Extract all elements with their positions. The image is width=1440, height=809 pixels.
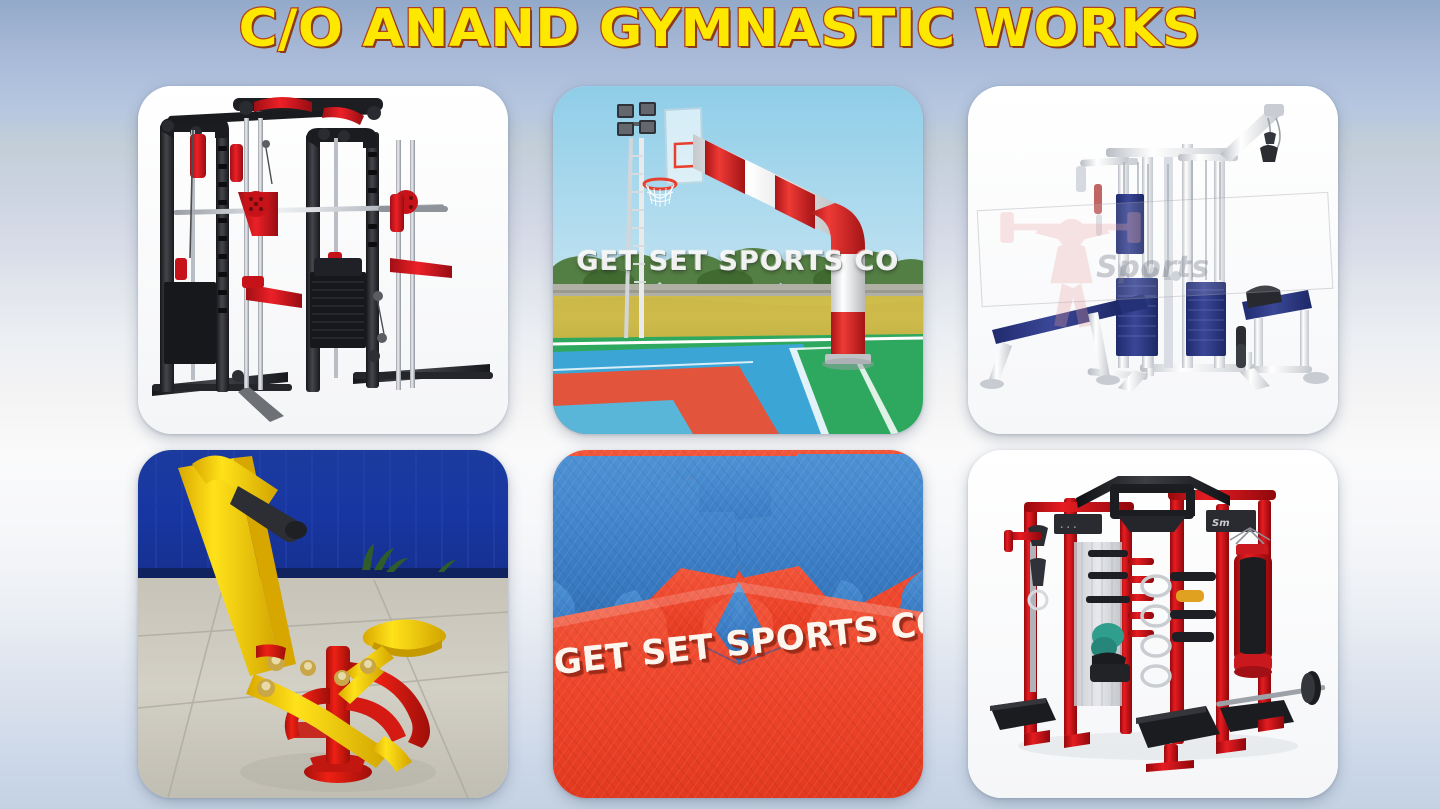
- gallery-tile-multi-function-smith-machine[interactable]: [138, 86, 508, 434]
- gallery-tile-interlocking-foam-mats[interactable]: GET SET SPORTS CO: [553, 450, 923, 798]
- product-image-foam-mats: GET SET SPORTS CO: [553, 450, 923, 798]
- product-image-training-rig: . . . Sm: [968, 450, 1338, 798]
- smith-machine-illustration: [138, 86, 508, 434]
- gallery-tile-outdoor-basketball-court-pole[interactable]: GET SET SPORTS CO: [553, 86, 923, 434]
- gallery-tile-outdoor-fitness-rider[interactable]: [138, 450, 508, 798]
- gallery-tile-multi-station-home-gym[interactable]: Sports: [968, 86, 1338, 434]
- gallery-tile-functional-training-rig[interactable]: . . . Sm: [968, 450, 1338, 798]
- training-rig-illustration: . . . Sm: [968, 450, 1338, 798]
- svg-text:Sm: Sm: [1212, 518, 1230, 529]
- page-header: C/O ANAND GYMNASTIC WORKS: [0, 0, 1440, 58]
- svg-text:. . .: . . .: [1060, 521, 1077, 531]
- foam-mats-illustration: [553, 450, 923, 798]
- watermark-athlete-icon: [983, 190, 1175, 336]
- product-image-outdoor-rider: [138, 450, 508, 798]
- basketball-court-illustration: [553, 86, 923, 434]
- product-image-multi-station-gym: Sports: [968, 86, 1338, 434]
- outdoor-rider-illustration: [138, 450, 508, 798]
- page-title: C/O ANAND GYMNASTIC WORKS: [239, 3, 1201, 55]
- product-image-smith-machine: [138, 86, 508, 434]
- product-gallery-grid: GET SET SPORTS CO: [138, 86, 1338, 798]
- product-image-basketball-court: GET SET SPORTS CO: [553, 86, 923, 434]
